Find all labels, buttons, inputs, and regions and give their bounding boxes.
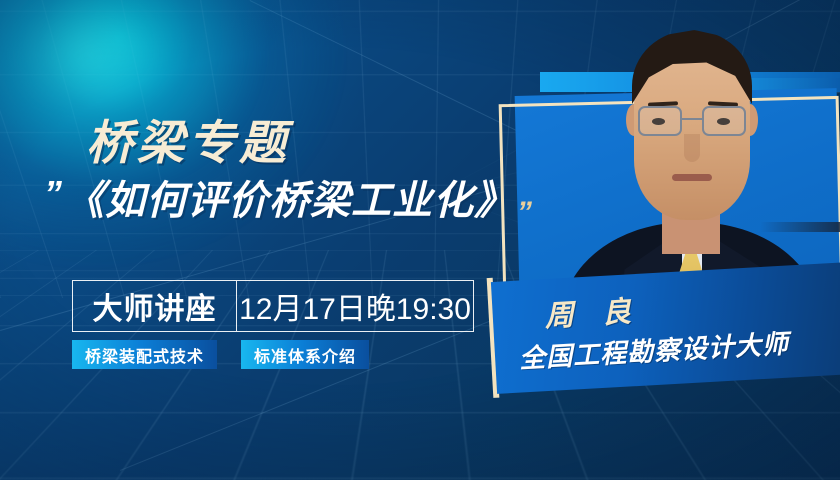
page-title: 桥梁专题 <box>86 104 290 173</box>
lecture-datetime: 12月17日晚19:30 <box>237 281 473 331</box>
portrait-glasses-right <box>702 106 746 136</box>
topic-tag-list: 桥梁装配式技术 标准体系介绍 <box>72 340 369 369</box>
topic-tag: 桥梁装配式技术 <box>72 340 217 369</box>
lecture-type-label: 大师讲座 <box>73 281 237 331</box>
portrait-mouth <box>672 174 712 181</box>
topic-tag: 标准体系介绍 <box>241 340 369 369</box>
dark-accent-strip <box>760 222 840 232</box>
lecture-info-box: 大师讲座 12月17日晚19:30 <box>72 280 474 332</box>
subtitle-row: ” 《如何评价桥梁工业化》 ” <box>44 168 530 226</box>
portrait-nose <box>684 134 700 162</box>
portrait-glasses-left <box>638 106 682 136</box>
quote-open-icon: ” <box>44 176 60 212</box>
speaker-banner-content: 周 良 全国工程勘察设计大师 <box>491 262 840 394</box>
portrait-glasses-bridge <box>682 118 702 120</box>
page-subtitle: 《如何评价桥梁工业化》 <box>64 168 515 226</box>
speaker-banner: 周 良 全国工程勘察设计大师 <box>491 262 840 394</box>
quote-close-icon: ” <box>517 198 530 228</box>
portrait-composition <box>480 0 840 480</box>
poster-canvas: 桥梁专题 ” 《如何评价桥梁工业化》 ” 大师讲座 12月17日晚19:30 桥… <box>0 0 840 480</box>
